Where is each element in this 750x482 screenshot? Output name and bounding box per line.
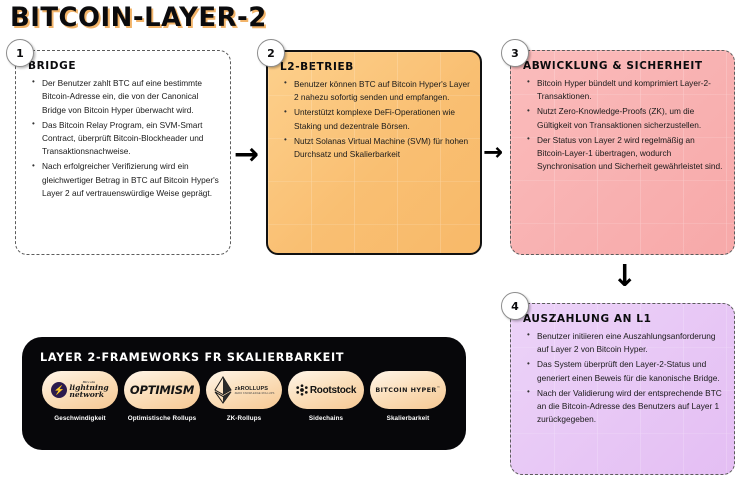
list-item: Nach erfolgreicher Verifizierung wird ei… xyxy=(41,160,220,200)
framework-caption: Optimistische Rollups xyxy=(128,415,197,423)
framework-item-lightning-network: ⚡ Bitcoin lightning network Geschwindigk… xyxy=(40,371,120,423)
list-item: Benutzer initiieren eine Auszahlungsanfo… xyxy=(536,330,724,357)
step-badge-3: 3 xyxy=(501,39,529,67)
step-badge-1: 1 xyxy=(6,39,34,67)
step-bullet-list: Benutzer können BTC auf Bitcoin Hyper's … xyxy=(280,78,470,162)
optimism-logo-icon: OPTIMISM xyxy=(130,383,194,397)
logo-text: BITCOIN HYPER xyxy=(375,386,436,394)
logo-pill: Rootstock xyxy=(288,371,364,409)
logo-pill: OPTIMISM xyxy=(124,371,200,409)
step-bullet-list: Der Benutzer zahlt BTC auf eine bestimmt… xyxy=(28,77,220,201)
list-item: Das Bitcoin Relay Program, ein SVM-Smart… xyxy=(41,119,220,159)
logo-text: Rootstock xyxy=(310,385,356,396)
step-bullet-list: Bitcoin Hyper bündelt und komprimiert La… xyxy=(523,77,724,174)
step-panel-l2-betrieb: L2-BETRIEB Benutzer können BTC auf Bitco… xyxy=(266,50,482,255)
framework-item-optimism: OPTIMISM Optimistische Rollups xyxy=(122,371,202,423)
arrow-down-icon: ↓ xyxy=(612,262,637,292)
step-bullet-list: Benutzer initiieren eine Auszahlungsanfo… xyxy=(523,330,724,427)
step-panel-auszahlung-an-l1: AUSZAHLUNG AN L1 Benutzer initiieren ein… xyxy=(510,303,735,475)
step-title: BRIDGE xyxy=(28,60,220,73)
framework-caption: Sidechains xyxy=(309,415,343,423)
step-badge-2: 2 xyxy=(257,39,285,67)
list-item: Nutzt Solanas Virtual Machine (SVM) für … xyxy=(293,135,470,162)
lightning-bolt-icon: ⚡ xyxy=(51,382,67,398)
frameworks-logo-row: ⚡ Bitcoin lightning network Geschwindigk… xyxy=(38,371,450,423)
page-title: BITCOIN-LAYER-2 xyxy=(10,2,267,33)
step-title: L2-BETRIEB xyxy=(280,61,470,74)
list-item: Nutzt Zero-Knowledge-Proofs (ZK), um die… xyxy=(536,105,724,132)
list-item: Das System überprüft den Layer-2-Status … xyxy=(536,358,724,385)
list-item: Bitcoin Hyper bündelt und komprimiert La… xyxy=(536,77,724,104)
logo-pill: BITCOIN HYPER™ xyxy=(370,371,446,409)
arrow-right-icon: → xyxy=(483,140,503,164)
step-title: AUSZAHLUNG AN L1 xyxy=(523,313,724,326)
logo-pill: zkROLLUPS ZERO KNOWLEDGE ROLLUPS xyxy=(206,371,282,409)
list-item: Nach der Validierung wird der entspreche… xyxy=(536,387,724,427)
framework-item-rootstock: Rootstock Sidechains xyxy=(286,371,366,423)
framework-caption: ZK-Rollups xyxy=(227,415,262,423)
bitcoin-hyper-logo-icon: BITCOIN HYPER™ xyxy=(375,386,440,394)
framework-item-zkrollups: zkROLLUPS ZERO KNOWLEDGE ROLLUPS ZK-Roll… xyxy=(204,371,284,423)
logo-subtext: ZERO KNOWLEDGE ROLLUPS xyxy=(235,392,275,395)
list-item: Der Status von Layer 2 wird regelmäßig a… xyxy=(536,134,724,174)
logo-pill: ⚡ Bitcoin lightning network xyxy=(42,371,118,409)
rootstock-logo-icon xyxy=(296,384,308,396)
framework-item-bitcoin-hyper: BITCOIN HYPER™ Skalierbarkeit xyxy=(368,371,448,423)
logo-text-line2: network xyxy=(69,390,104,399)
ethereum-diamond-icon xyxy=(214,376,232,404)
framework-caption: Skalierbarkeit xyxy=(387,415,430,423)
logo-superscript: ™ xyxy=(437,386,441,390)
list-item: Der Benutzer zahlt BTC auf eine bestimmt… xyxy=(41,77,220,117)
list-item: Benutzer können BTC auf Bitcoin Hyper's … xyxy=(293,78,470,105)
infographic-canvas: BITCOIN-LAYER-2 BRIDGE Der Benutzer zahl… xyxy=(0,0,750,482)
step-panel-abwicklung-sicherheit: ABWICKLUNG & SICHERHEIT Bitcoin Hyper bü… xyxy=(510,50,735,255)
arrow-right-icon: → xyxy=(234,140,259,170)
framework-caption: Geschwindigkeit xyxy=(54,415,106,423)
step-badge-4: 4 xyxy=(501,292,529,320)
frameworks-title: LAYER 2-FRAMEWORKS FR SKALIERBARKEIT xyxy=(40,350,438,364)
frameworks-card: LAYER 2-FRAMEWORKS FR SKALIERBARKEIT ⚡ B… xyxy=(22,337,466,450)
list-item: Unterstützt komplexe DeFi-Operationen wi… xyxy=(293,106,470,133)
step-title: ABWICKLUNG & SICHERHEIT xyxy=(523,60,724,73)
step-panel-bridge: BRIDGE Der Benutzer zahlt BTC auf eine b… xyxy=(15,50,231,255)
